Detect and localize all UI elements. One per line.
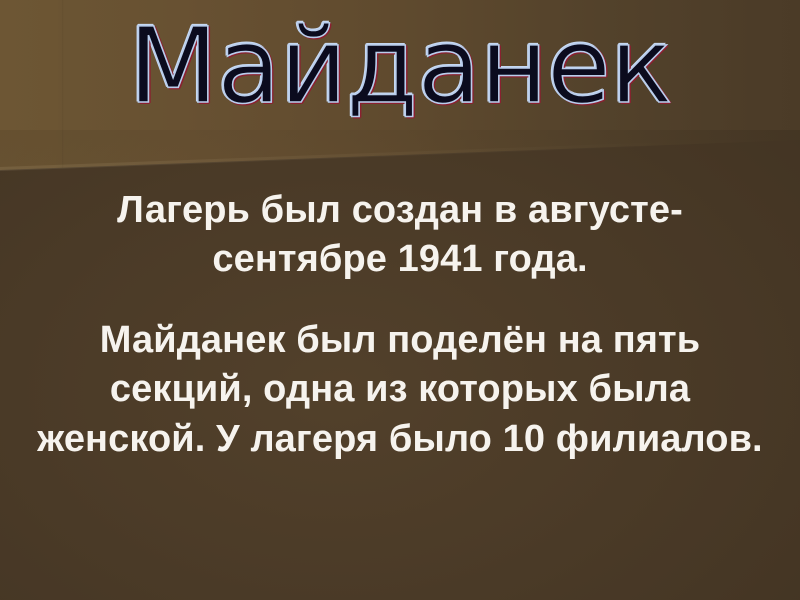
paragraph-text: Лагерь был создан в августе-сентябре 194… bbox=[36, 186, 764, 285]
paragraph-text: Майданек был поделён на пять секций, одн… bbox=[36, 316, 764, 464]
slide-body-paragraph-1: Лагерь был создан в августе-сентябре 194… bbox=[36, 186, 764, 285]
presentation-slide: Майданек Лагерь был создан в августе-сен… bbox=[0, 0, 800, 600]
slide-title-wordart: Майданек bbox=[128, 14, 671, 118]
slide-body-paragraph-2: Майданек был поделён на пять секций, одн… bbox=[36, 316, 764, 464]
slide-title-area: Майданек bbox=[0, 14, 800, 134]
